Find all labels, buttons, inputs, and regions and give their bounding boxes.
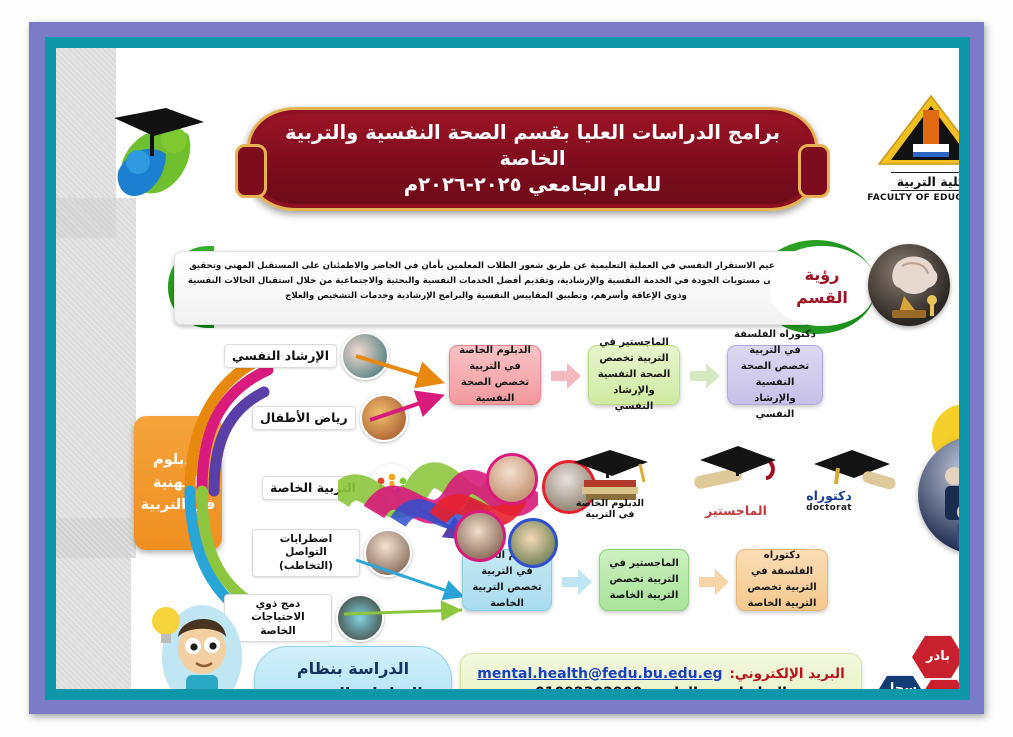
texture-bottom-left — [56, 518, 131, 689]
ribbon-tab-right — [798, 144, 830, 198]
degree-label-diploma: الدبلوم الخاصة في التربية — [564, 498, 656, 520]
poster-title-line-1: برامج الدراسات العليا بقسم الصحة النفسية… — [250, 120, 815, 173]
branch-row-counselling[interactable]: الإرشاد النفسي — [224, 334, 389, 378]
graduation-cap-people-logo-icon — [104, 100, 209, 205]
arrow-masters-to-phd-special — [699, 569, 729, 595]
degree-label-masters: الماجستير — [696, 503, 776, 518]
vision-badge-line-2: القسم — [796, 286, 848, 309]
photo-group-circle — [508, 518, 558, 568]
counselling-session-photo-icon — [341, 332, 389, 380]
graduation-cap-scroll-icon — [686, 438, 782, 500]
contact-bar: البريد الإلكتروني: mental.health@fedu.bu… — [460, 653, 862, 689]
photo-child-circle — [486, 453, 538, 505]
result-box-diploma-mental-health[interactable]: الدبلوم الخاصة في التربية تخصص الصحة الن… — [449, 345, 541, 405]
vision-statement-text: تدعيم الاستقرار النفسي في العملية التعلي… — [182, 257, 790, 319]
branch-label-counselling: الإرشاد النفسي — [224, 344, 337, 368]
thinking-boy-lightbulb-illustration-icon — [144, 593, 254, 689]
cta-hexagons: بادر سجل الآن — [868, 634, 959, 689]
whatsapp-line: التواصل عبر الواتس 01092302900 — [535, 685, 787, 690]
cta-hex-badir[interactable]: بادر — [912, 634, 959, 680]
arrow-masters-to-phd-mental — [690, 363, 720, 389]
whatsapp-label: التواصل عبر الواتس — [649, 685, 787, 690]
university-logo: كلية التربية FACULTY OF EDUCATION — [856, 94, 959, 214]
cta-hex-plain[interactable] — [918, 678, 959, 689]
degree-label-phd-ar: دكتوراه — [794, 488, 864, 503]
email-line: البريد الإلكتروني: mental.health@fedu.bu… — [477, 666, 844, 682]
photo-mother-child-circle — [454, 510, 506, 562]
ribbon-tab-left — [235, 144, 267, 198]
graduation-cap-books-icon — [566, 440, 652, 502]
result-box-phd-mental-health[interactable]: دكتوراه الفلسفة في التربية تخصص الصحة ال… — [727, 345, 823, 405]
frame-inner-teal: برامج الدراسات العليا بقسم الصحة النفسية… — [45, 37, 970, 700]
result-box-masters-special-education[interactable]: الماجستير في التربية تخصص التربية الخاصة — [599, 549, 689, 611]
poster-canvas: برامج الدراسات العليا بقسم الصحة النفسية… — [56, 48, 959, 689]
email-address-link[interactable]: mental.health@fedu.bu.edu.eg — [477, 666, 722, 682]
kindergarten-children-photo-icon — [360, 394, 408, 442]
degree-label-phd-en: doctorat — [794, 503, 864, 513]
email-label: البريد الإلكتروني: — [730, 666, 845, 682]
faculty-name-en: FACULTY OF EDUCATION — [867, 193, 959, 203]
vision-line-2: أعلى مستويات الجودة في الخدمة النفسية وا… — [186, 274, 786, 289]
branch-label-communication-line-2: (التخاطب) — [260, 560, 352, 574]
frame-outer-purple: برامج الدراسات العليا بقسم الصحة النفسية… — [29, 22, 984, 714]
cta-hex-register-line-1: سجل — [883, 682, 917, 689]
inclusion-group-photo-icon — [336, 594, 384, 642]
credit-hours-line-2: الساعات المعتمدة — [283, 682, 423, 689]
texture-left-strip — [56, 198, 136, 558]
result-box-masters-mental-health[interactable]: الماجستير في التربية تخصص الصحة النفسية … — [588, 345, 680, 405]
faculty-name-ar: كلية التربية — [891, 172, 959, 191]
poster-root: برامج الدراسات العليا بقسم الصحة النفسية… — [0, 0, 1013, 737]
result-box-phd-special-education[interactable]: دكتوراه الفلسفة في التربية تخصص التربية … — [736, 549, 828, 611]
whatsapp-number[interactable]: 01092302900 — [535, 685, 642, 690]
benha-university-pyramid-logo-icon — [875, 94, 959, 170]
vision-badge: رؤية القسم — [772, 248, 872, 324]
branch-label-kindergarten: رياض الأطفال — [252, 406, 356, 430]
degree-label-diploma-line-1: الدبلوم الخاصة — [564, 498, 656, 509]
vision-badge-line-1: رؤية — [805, 263, 840, 286]
credit-hours-badge: الدراسة بنظام الساعات المعتمدة — [254, 646, 452, 689]
degree-label-diploma-line-2: في التربية — [564, 509, 656, 520]
arrow-diploma-to-masters-mental — [551, 363, 581, 389]
poster-title-line-2: للعام الجامعي ٢٠٢٥-٢٠٢٦م — [404, 172, 661, 198]
cta-hex-register-now[interactable]: سجل الآن — [874, 674, 926, 689]
branch-row-kindergarten[interactable]: رياض الأطفال — [252, 396, 408, 440]
brain-key-lamp-image-icon — [868, 244, 950, 326]
vision-line-3: وذوي الإعاقة وأسرهم، وتطبيق المقاييس الن… — [186, 289, 786, 304]
arrow-diploma-to-masters-special — [562, 569, 592, 595]
vision-line-1: تدعيم الاستقرار النفسي في العملية التعلي… — [186, 259, 786, 274]
credit-hours-line-1: الدراسة بنظام — [297, 657, 409, 682]
degree-label-phd: دكتوراه doctorat — [794, 488, 864, 513]
poster-title-ribbon: برامج الدراسات العليا بقسم الصحة النفسية… — [247, 107, 818, 211]
